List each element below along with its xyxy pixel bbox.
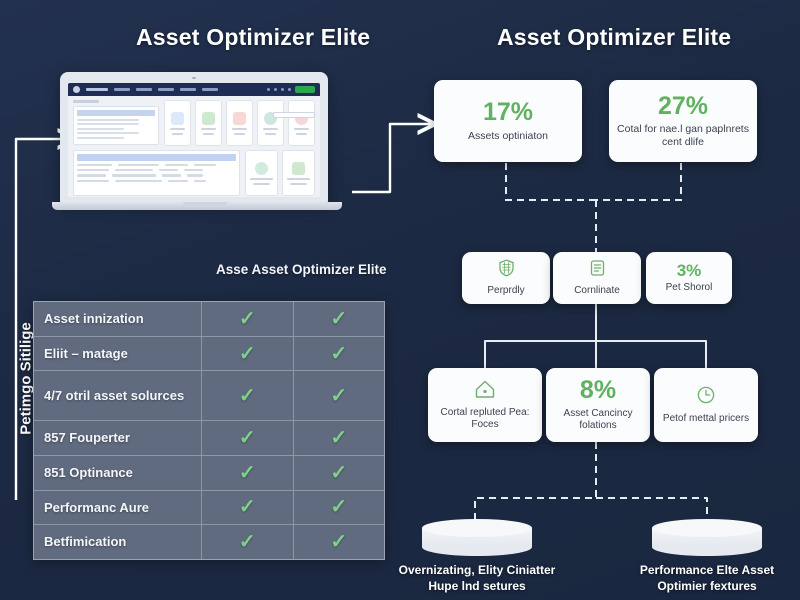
- check-icon: ✓: [239, 309, 256, 329]
- dash-kpi2-junction: [596, 163, 681, 200]
- home-icon: [474, 379, 496, 404]
- mid-card-caption: Pet Shorol: [666, 282, 713, 295]
- table-row[interactable]: Asset innization ✓ ✓: [34, 302, 384, 337]
- feature-card[interactable]: [226, 100, 253, 146]
- app-brand-text: [86, 88, 108, 91]
- feature-label: 851 Optinance: [34, 456, 202, 490]
- document-icon: [589, 259, 606, 282]
- check-cell: ✓: [202, 491, 294, 525]
- list-item[interactable]: [77, 132, 139, 134]
- mid-card-value: 3%: [677, 262, 702, 280]
- nav-item[interactable]: [202, 88, 218, 91]
- feature-card[interactable]: [257, 100, 284, 146]
- kpi-card-2[interactable]: 27% Cotal for nae.l gan paplnrets cent d…: [609, 80, 757, 162]
- check-icon: ✓: [330, 386, 347, 406]
- card-caption: [290, 183, 307, 185]
- laptop-mockup: [60, 72, 350, 220]
- laptop-screen: [68, 83, 320, 197]
- cylinder-caption: Performance Elte Asset Optimier fextures: [612, 563, 800, 594]
- table-row[interactable]: Performanc Aure ✓ ✓: [34, 491, 384, 526]
- check-cell: ✓: [202, 421, 294, 455]
- check-cell: ✓: [202, 302, 294, 336]
- card-caption: [203, 133, 215, 135]
- avatar[interactable]: [288, 88, 291, 91]
- cylinder-top: [652, 519, 762, 537]
- app-topbar: [68, 83, 320, 96]
- card-caption: [294, 128, 309, 130]
- primary-action-button[interactable]: [295, 86, 315, 93]
- dash-kpi1-junction: [506, 163, 596, 200]
- table-row[interactable]: [77, 164, 236, 166]
- bottle-icon: [292, 162, 305, 175]
- list-item[interactable]: [77, 123, 139, 125]
- mid-card-caption: Perprdly: [487, 285, 524, 298]
- database-cylinder-2[interactable]: Performance Elte Asset Optimier fextures: [652, 519, 762, 556]
- check-icon: ✓: [239, 386, 256, 406]
- tag-icon: [171, 112, 184, 125]
- arrow-laptop-to-kpi: [352, 124, 432, 192]
- card-caption: [250, 178, 272, 180]
- dash-low-to-cyl1: [475, 442, 596, 520]
- panel-label: [73, 100, 99, 103]
- kpi-card-1[interactable]: 17% Assets optiniaton: [434, 80, 582, 162]
- line-mid-to-low1: [485, 304, 596, 368]
- low-card-value: 8%: [580, 377, 616, 403]
- table-row[interactable]: [77, 169, 236, 171]
- check-cell: ✓: [294, 421, 385, 455]
- page-title-right: Asset Optimizer Elite: [497, 24, 731, 51]
- card-caption: [287, 178, 309, 180]
- check-icon: ✓: [330, 532, 347, 552]
- feature-card[interactable]: [164, 100, 191, 146]
- cylinder-caption: Overnizating, Elity Ciniatter Hupe lnd s…: [382, 563, 572, 594]
- line-mid-to-low3: [596, 341, 706, 368]
- apple-icon: [255, 162, 268, 175]
- check-icon: ✓: [330, 463, 347, 483]
- mid-card-caption: Cornlinate: [574, 285, 620, 298]
- card-caption: [296, 133, 308, 135]
- low-card-caption: Cortal repluted Pea: Foces: [436, 407, 534, 432]
- check-icon: ✓: [239, 428, 256, 448]
- database-cylinder-1[interactable]: Overnizating, Elity Ciniatter Hupe lnd s…: [422, 519, 532, 556]
- table-row[interactable]: [77, 174, 236, 176]
- table-row[interactable]: 4/7 otril asset solurces ✓ ✓: [34, 371, 384, 421]
- card-caption: [265, 133, 277, 135]
- app-logo-icon: [73, 86, 80, 93]
- dash-low-to-cyl2: [596, 498, 707, 520]
- webcam-dot: [192, 77, 196, 79]
- low-card-caption: Petof mettal pricers: [663, 413, 749, 426]
- check-icon: ✓: [330, 309, 347, 329]
- app-body: [68, 96, 320, 150]
- side-card-row: [245, 150, 315, 196]
- check-cell: ✓: [294, 491, 385, 525]
- search-icon[interactable]: [274, 88, 277, 91]
- low-card-1[interactable]: Cortal repluted Pea: Foces: [428, 368, 542, 442]
- kpi-caption: Assets optiniaton: [468, 130, 548, 143]
- nav-item[interactable]: [158, 88, 174, 91]
- check-cell: ✓: [294, 456, 385, 490]
- check-icon: ✓: [330, 497, 347, 517]
- feature-label: Asset innization: [34, 302, 202, 336]
- card-caption: [232, 128, 247, 130]
- laptop-lid: [60, 72, 328, 204]
- card-caption: [172, 133, 184, 135]
- kpi-value: 17%: [483, 99, 533, 125]
- table-header: [77, 154, 236, 161]
- feature-label: 4/7 otril asset solurces: [34, 371, 202, 420]
- nav-list-panel: [73, 106, 159, 146]
- card-caption: [234, 133, 246, 135]
- kpi-value: 27%: [658, 93, 708, 119]
- flame-icon: [233, 112, 246, 125]
- check-icon: ✓: [239, 344, 256, 364]
- comparison-side-label: Petimgo Sitilige: [18, 309, 35, 449]
- cylinder-top: [422, 519, 532, 537]
- check-cell: ✓: [294, 371, 385, 420]
- bell-icon[interactable]: [267, 88, 270, 91]
- check-cell: ✓: [202, 371, 294, 420]
- feature-card[interactable]: [195, 100, 222, 146]
- topbar-actions: [267, 86, 315, 93]
- low-card-2[interactable]: 8% Asset Cancincy folations: [546, 368, 650, 442]
- bank-icon: [202, 112, 215, 125]
- feature-label: Betfimication: [34, 525, 202, 559]
- card-caption: [170, 128, 185, 130]
- check-cell: ✓: [294, 302, 385, 336]
- side-feature-card[interactable]: [282, 150, 315, 196]
- card-caption: [201, 128, 216, 130]
- sidebar-panel: [73, 100, 159, 146]
- card-caption: [263, 128, 278, 130]
- list-item[interactable]: [77, 137, 124, 139]
- check-cell: ✓: [202, 525, 294, 559]
- comparison-table-caption: Asse Asset Optimizer Elite: [216, 262, 387, 277]
- laptop-notch: [183, 202, 227, 205]
- feature-label: Eliit – matage: [34, 337, 202, 371]
- table-row[interactable]: Betfimication ✓ ✓: [34, 525, 384, 559]
- comparison-table: Asset innization ✓ ✓ Eliit – matage ✓ ✓ …: [33, 301, 385, 560]
- low-card-3[interactable]: Petof mettal pricers: [654, 368, 758, 442]
- list-item[interactable]: [77, 119, 139, 121]
- check-icon: ✓: [239, 463, 256, 483]
- page-title-left: Asset Optimizer Elite: [136, 24, 370, 51]
- feature-label: 857 Fouperter: [34, 421, 202, 455]
- check-cell: ✓: [202, 456, 294, 490]
- check-icon: ✓: [330, 344, 347, 364]
- mid-card-2[interactable]: Cornlinate: [553, 252, 641, 304]
- card-caption: [253, 183, 270, 185]
- nav-item[interactable]: [180, 88, 196, 91]
- nav-list-header: [77, 110, 155, 116]
- clock-icon: [696, 385, 716, 410]
- feature-card-row: [164, 100, 315, 146]
- table-row[interactable]: 851 Optinance ✓ ✓: [34, 456, 384, 491]
- table-row[interactable]: [77, 180, 236, 182]
- list-item[interactable]: [77, 128, 124, 130]
- side-feature-card[interactable]: [245, 150, 278, 196]
- infographic-canvas: Asset Optimizer Elite Asset Optimizer El…: [0, 0, 800, 600]
- table-row[interactable]: Eliit – matage ✓ ✓: [34, 337, 384, 372]
- check-icon: ✓: [239, 532, 256, 552]
- check-icon: ✓: [330, 428, 347, 448]
- check-icon: ✓: [239, 497, 256, 517]
- table-row[interactable]: 857 Fouperter ✓ ✓: [34, 421, 384, 456]
- feature-label: Performanc Aure: [34, 491, 202, 525]
- data-table-panel: [73, 150, 240, 196]
- check-cell: ✓: [202, 337, 294, 371]
- check-cell: ✓: [294, 337, 385, 371]
- mid-card-1[interactable]: Perprdly: [462, 252, 550, 304]
- shield-icon: [498, 259, 515, 282]
- app-lower: [68, 150, 320, 197]
- nav-item[interactable]: [136, 88, 152, 91]
- search-input[interactable]: [273, 112, 315, 118]
- kpi-caption: Cotal for nae.l gan paplnrets cent dlife: [617, 123, 749, 149]
- feature-card[interactable]: [288, 100, 315, 146]
- mid-card-3[interactable]: 3% Pet Shorol: [646, 252, 732, 304]
- check-cell: ✓: [294, 525, 385, 559]
- help-icon[interactable]: [281, 88, 284, 91]
- nav-item[interactable]: [114, 88, 130, 91]
- low-card-caption: Asset Cancincy folations: [554, 408, 642, 433]
